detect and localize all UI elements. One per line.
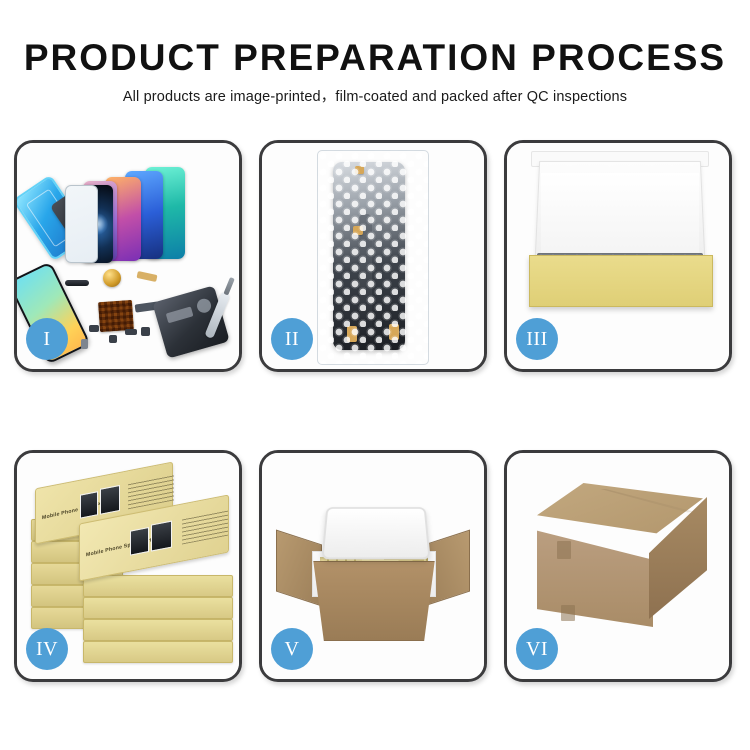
- step-badge-6: VI: [516, 628, 558, 670]
- small-part-1-icon: [89, 325, 99, 332]
- carton-front-face-icon: [537, 515, 653, 627]
- small-part-2-icon: [109, 335, 117, 343]
- sealed-carton: [531, 483, 709, 645]
- step-panel-1[interactable]: I: [14, 140, 242, 372]
- small-part-3-icon: [125, 329, 137, 335]
- carton-tape-patch-1-icon: [557, 541, 571, 559]
- product-preparation-infographic: PRODUCT PREPARATION PROCESS All products…: [0, 0, 750, 750]
- yellow-box-base-icon: [529, 255, 713, 307]
- page-subtitle: All products are image-printed，film-coat…: [0, 88, 750, 107]
- page-title: PRODUCT PREPARATION PROCESS: [0, 36, 750, 80]
- bubble-wrap-bag: [317, 150, 429, 365]
- carton-body-icon: [308, 561, 440, 641]
- step-badge-5: V: [271, 628, 313, 670]
- flex-cable-1-icon: [136, 271, 157, 282]
- tempered-glass-clear-icon: [65, 185, 98, 263]
- box-phone-image-2a: [130, 527, 149, 556]
- step-panel-5[interactable]: V: [259, 450, 487, 682]
- step-badge-4: IV: [26, 628, 68, 670]
- process-step-grid: I II: [14, 140, 736, 700]
- foam-lid-icon: [321, 507, 430, 559]
- box-text-block-1: [128, 474, 174, 509]
- stack-box-r1: [83, 575, 233, 597]
- step-panel-4[interactable]: Mobile Phone Spare Parts Mobile Phone Sp…: [14, 450, 242, 682]
- step-badge-2: II: [271, 318, 313, 360]
- stack-box-r2: [83, 597, 233, 619]
- vibration-motor-icon: [103, 269, 121, 287]
- step-panel-3[interactable]: III: [504, 140, 732, 372]
- open-carton: [290, 505, 458, 645]
- stack-box-r4: [83, 641, 233, 663]
- chip-grid-icon: [98, 300, 134, 332]
- box-phone-image-2b: [151, 521, 172, 552]
- stack-box-r3: [83, 619, 233, 641]
- header: PRODUCT PREPARATION PROCESS All products…: [0, 36, 750, 107]
- step-panel-6[interactable]: VI: [504, 450, 732, 682]
- carton-tape-patch-2-icon: [561, 605, 575, 621]
- small-part-4-icon: [81, 339, 88, 349]
- step-badge-3: III: [516, 318, 558, 360]
- step-panel-2[interactable]: II: [259, 140, 487, 372]
- box-phone-image-1a: [80, 491, 98, 518]
- bubble-texture-icon: [317, 150, 429, 365]
- step-badge-1: I: [26, 318, 68, 360]
- small-part-5-icon: [141, 327, 150, 336]
- box-text-block-2: [182, 510, 228, 545]
- speaker-part-icon: [65, 280, 89, 286]
- box-phone-image-1b: [100, 485, 120, 515]
- foam-sheet-icon: [541, 173, 699, 257]
